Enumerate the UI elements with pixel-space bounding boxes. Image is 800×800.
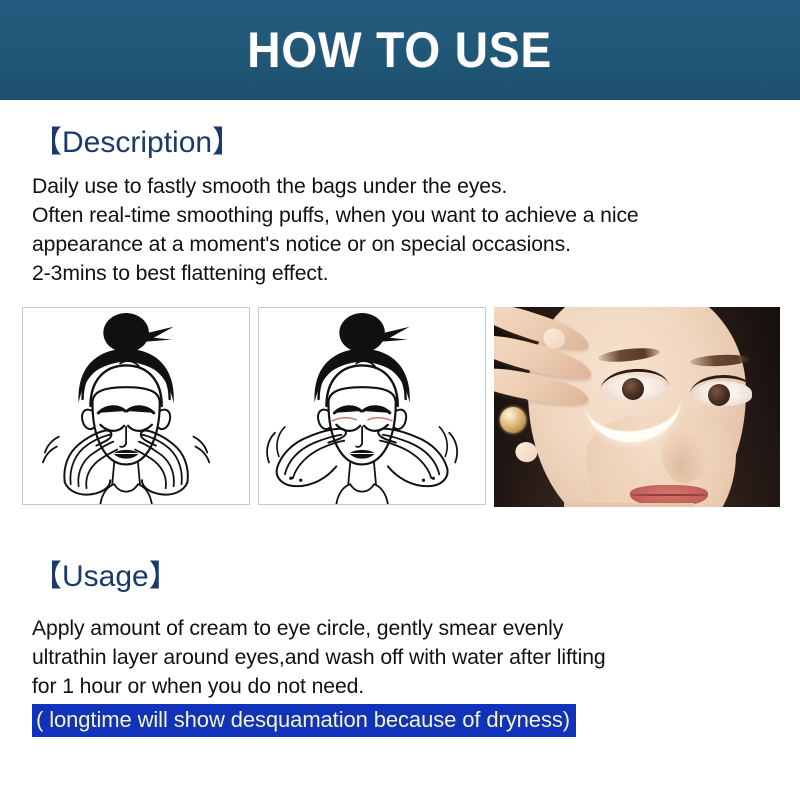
usage-line-2: ultrathin layer around eyes,and wash off… [32,643,606,672]
photo-nose [662,427,708,483]
description-line-1: Daily use to fastly smooth the bags unde… [32,172,639,201]
usage-heading: 【Usage】 [32,562,614,592]
description-line-4: 2-3mins to best flattening effect. [32,259,639,288]
photo-neck [564,503,694,507]
description-line-2: Often real-time smoothing puffs, when yo… [32,201,639,230]
header-banner: HOW TO USE [0,0,800,100]
description-heading: 【Description】 [32,128,648,158]
page-title: HOW TO USE [248,25,553,75]
illustration-strip [22,307,782,507]
step-2-smooth-outward-panel [258,307,486,505]
photo-earring [500,407,526,433]
eye-cream-application-photo [494,307,780,507]
photo-lip-line [630,494,708,496]
description-section: 【Description】 Daily use to fastly smooth… [32,128,648,288]
usage-section: 【Usage】 Apply amount of cream to eye cir… [32,562,614,737]
woman-smoothing-outward-icon [259,308,485,504]
woman-patting-under-eyes-icon [23,308,249,504]
step-3-cream-applied-photo-panel [494,307,780,507]
usage-line-3: for 1 hour or when you do not need. [32,672,606,701]
step-1-pat-under-eyes-panel [22,307,250,505]
description-line-3: appearance at a moment's notice or on sp… [32,230,639,259]
usage-warning-highlight: ( longtime will show desquamation becaus… [32,704,576,737]
usage-line-1: Apply amount of cream to eye circle, gen… [32,614,606,643]
